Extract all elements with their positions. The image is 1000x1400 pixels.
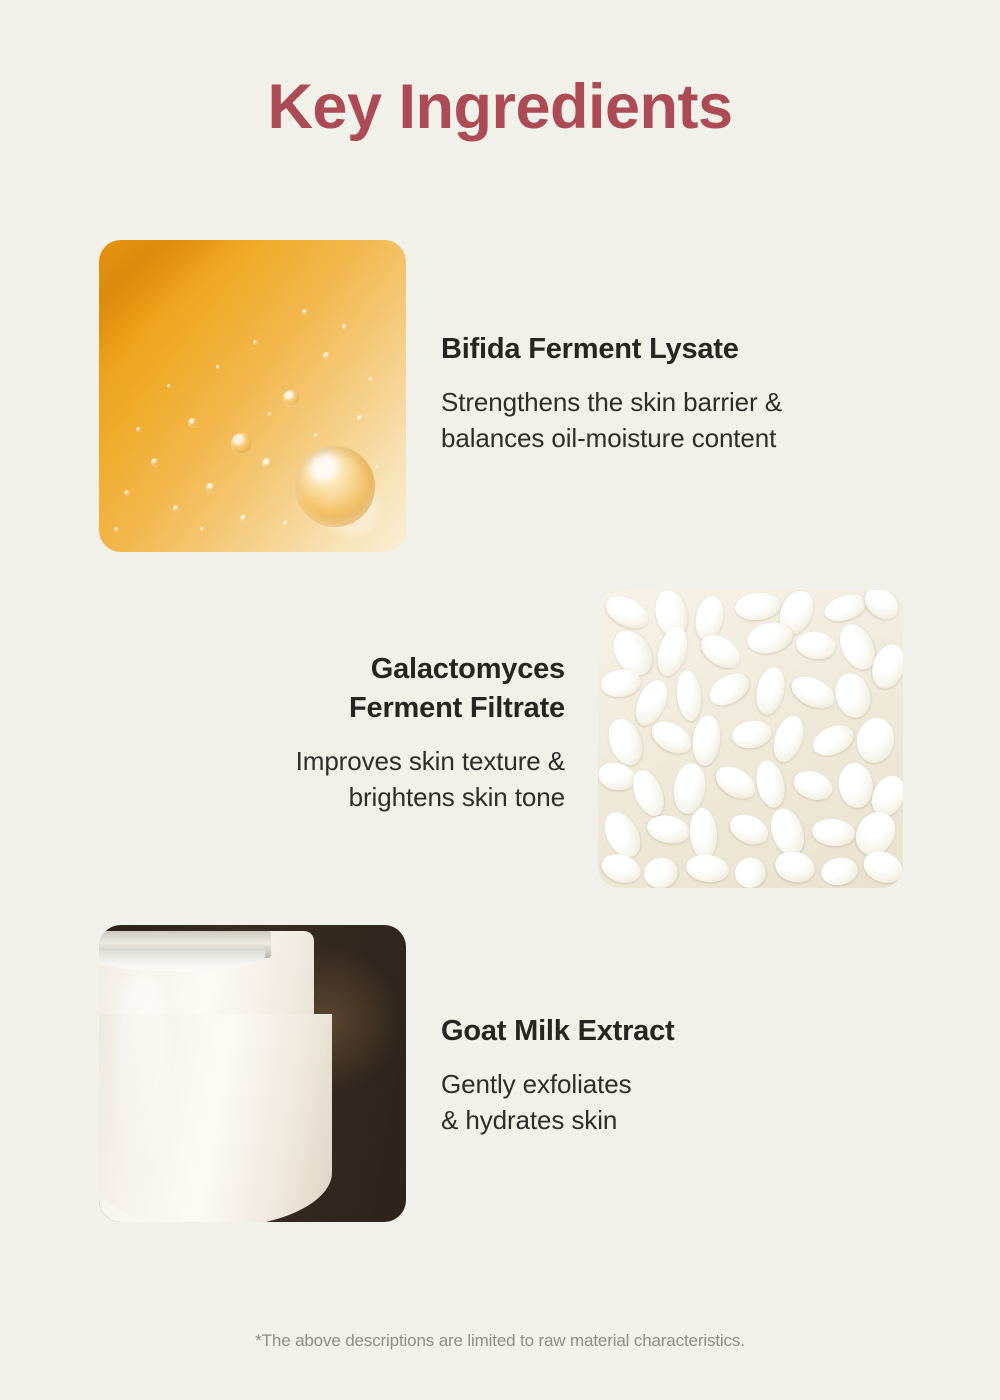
key-ingredients-page: Key Ingredients <box>0 0 1000 1400</box>
ingredient-description: Gently exfoliates & hydrates skin <box>441 1067 911 1139</box>
ingredient-text-galactomyces-ferment-filtrate: Galactomyces Ferment Filtrate Improves s… <box>95 650 565 815</box>
page-title: Key Ingredients <box>0 74 1000 140</box>
ingredient-description-line2: & hydrates skin <box>441 1103 911 1139</box>
milk-pitcher-icon <box>99 925 406 1222</box>
ingredient-description: Strengthens the skin barrier & balances … <box>441 385 911 457</box>
ingredient-description-line1: Gently exfoliates <box>441 1067 911 1103</box>
footnote-disclaimer: *The above descriptions are limited to r… <box>0 1331 1000 1351</box>
ingredient-text-goat-milk-extract: Goat Milk Extract Gently exfoliates & hy… <box>441 1012 911 1139</box>
honey-texture-icon <box>99 240 406 552</box>
ingredient-image-goat-milk-extract <box>99 925 406 1222</box>
ingredient-image-bifida-ferment-lysate <box>99 240 406 552</box>
ingredient-name: Galactomyces Ferment Filtrate <box>95 650 565 728</box>
ingredient-description: Improves skin texture & brightens skin t… <box>95 744 565 816</box>
rice-grains-icon <box>598 590 903 888</box>
ingredient-name: Bifida Ferment Lysate <box>441 330 911 369</box>
ingredient-description-line2: brightens skin tone <box>95 780 565 816</box>
ingredient-description-line1: Strengthens the skin barrier & <box>441 385 911 421</box>
pitcher-highlight <box>117 973 166 1181</box>
ingredient-name-line1: Galactomyces <box>95 650 565 689</box>
honey-streak <box>99 240 392 389</box>
ingredient-name-line2: Ferment Filtrate <box>95 689 565 728</box>
ingredient-image-galactomyces-ferment-filtrate <box>598 590 903 888</box>
ingredient-description-line2: balances oil-moisture content <box>441 421 911 457</box>
ingredient-name: Goat Milk Extract <box>441 1012 911 1051</box>
ingredient-text-bifida-ferment-lysate: Bifida Ferment Lysate Strengthens the sk… <box>441 330 911 457</box>
ingredient-description-line1: Improves skin texture & <box>95 744 565 780</box>
